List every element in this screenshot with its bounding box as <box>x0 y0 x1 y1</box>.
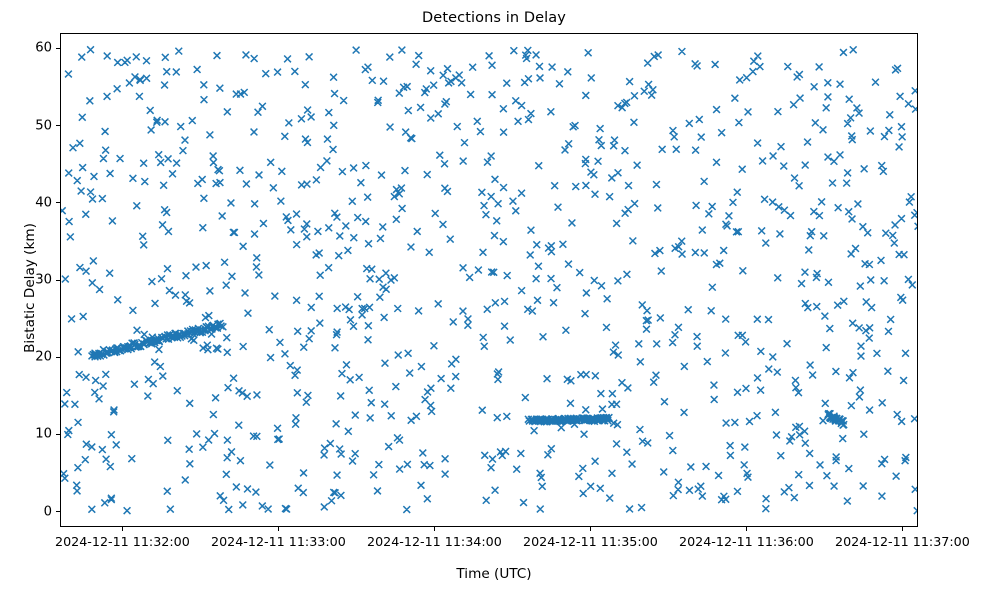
x-tick-mark <box>434 527 435 531</box>
x-tick-mark <box>902 527 903 531</box>
x-tick-label: 2024-12-11 11:32:00 <box>55 534 190 549</box>
x-tick-mark <box>278 527 279 531</box>
x-tick-label: 2024-12-11 11:37:00 <box>835 534 970 549</box>
y-tick-label: 10 <box>8 427 52 442</box>
x-tick-label: 2024-12-11 11:35:00 <box>523 534 658 549</box>
chart-title: Detections in Delay <box>0 10 988 26</box>
scatter-points-layer <box>61 34 918 527</box>
y-tick-label: 60 <box>8 41 52 56</box>
x-tick-mark <box>746 527 747 531</box>
plot-area <box>60 33 918 527</box>
y-tick-label: 50 <box>8 118 52 133</box>
x-tick-label: 2024-12-11 11:36:00 <box>679 534 814 549</box>
y-tick-label: 0 <box>8 504 52 519</box>
x-tick-mark <box>122 527 123 531</box>
x-axis-label: Time (UTC) <box>0 566 988 582</box>
x-tick-label: 2024-12-11 11:34:00 <box>367 534 502 549</box>
scatter-marker-path <box>61 46 918 514</box>
x-tick-label: 2024-12-11 11:33:00 <box>211 534 346 549</box>
x-tick-mark <box>590 527 591 531</box>
y-axis-label: Bistatic Delay (km) <box>22 168 38 408</box>
figure-canvas: Detections in Delay 0102030405060 2024-1… <box>0 0 988 590</box>
